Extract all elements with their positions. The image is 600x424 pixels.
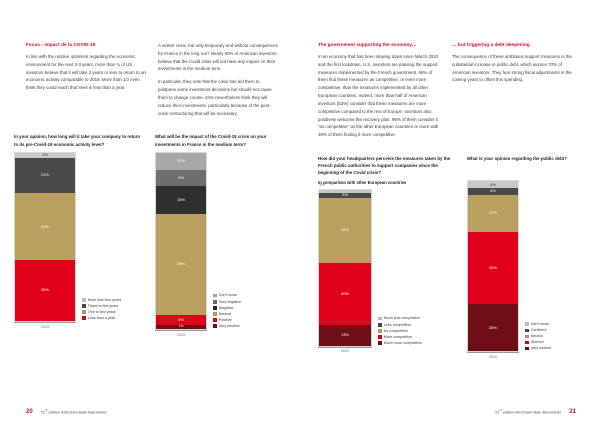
legend-swatch xyxy=(525,329,529,333)
legend-0: More than five yearsThree to five yearsO… xyxy=(82,298,121,329)
bar-segment: 40% xyxy=(319,263,371,325)
legend-item: Three to five years xyxy=(82,304,121,309)
legend-swatch xyxy=(82,310,86,314)
legend-swatch xyxy=(213,294,217,298)
legend-item: Neutral xyxy=(525,334,551,339)
page-number: 20 xyxy=(26,409,33,415)
legend-item: More than five years xyxy=(82,298,121,303)
x-tick-label: 2020 xyxy=(155,333,207,337)
legend-label: Very negative xyxy=(219,300,241,305)
legend-swatch xyxy=(525,347,529,351)
legend-swatch xyxy=(525,341,529,345)
legend-label: Confident xyxy=(531,328,547,333)
bar-segment-value: 4% xyxy=(490,189,496,193)
stacked-bar: 4%4%22%43%28% xyxy=(467,180,519,352)
bar-segment: 28% xyxy=(468,304,518,351)
legend-label: Neutral xyxy=(219,312,231,317)
legend-swatch xyxy=(378,341,382,345)
text-column-debt: … but triggering a debt deepening The co… xyxy=(452,42,574,139)
legend-label: Much less competitive xyxy=(384,316,420,321)
footer-caption: 21st edition AmCham-Bain Barometer xyxy=(495,408,561,414)
paragraph: The consequence of these ambitious suppo… xyxy=(452,53,574,84)
page-left: Focus - impact de la COVID-19 In line wi… xyxy=(0,0,300,424)
axis-line xyxy=(14,322,76,323)
axis-line xyxy=(318,347,372,348)
legend-label: Less than a year xyxy=(88,316,115,321)
stacked-bar: 3%21%40%36% xyxy=(14,152,76,322)
legend-swatch xyxy=(378,317,382,321)
legend-swatch xyxy=(525,322,529,326)
bar-segment-value: 1% xyxy=(179,325,184,328)
legend-item: Very negative xyxy=(213,300,241,305)
legend-label: Very positive xyxy=(219,324,240,329)
kicker-focus: Focus - impact de la COVID-19 xyxy=(26,42,146,48)
axis-line xyxy=(467,352,519,353)
bar-segment: 16% xyxy=(156,186,206,214)
legend-item: Neutral xyxy=(213,312,241,317)
chart-title: In your opinion, how long will it take y… xyxy=(14,133,143,147)
right-text-columns: The government supporting the economy… I… xyxy=(300,0,600,139)
bar-segment: 21% xyxy=(15,158,75,193)
legend-item: Less competitive xyxy=(378,323,422,328)
bar-segment-value: 6% xyxy=(178,318,184,322)
outside-value-label: 1% xyxy=(319,183,325,187)
bar-segment-value: 16% xyxy=(177,198,185,202)
left-text-columns: Focus - impact de la COVID-19 In line wi… xyxy=(0,0,300,117)
bar-segment: 58% xyxy=(156,214,206,315)
legend-item: Negative xyxy=(213,306,241,311)
footer-left: 20 21st edition AmCham-Bain Barometer xyxy=(26,408,107,415)
paragraph: In line with the relative optimism regar… xyxy=(26,53,146,92)
bar-segment: 13% xyxy=(319,325,371,345)
legend-item: Very positive xyxy=(213,324,241,329)
stacked-bar: 1%3%42%40%13% xyxy=(318,189,372,347)
legend-item: Positive xyxy=(213,318,241,323)
bar-wrap-1: 10%9%16%58%6%1% 2020 xyxy=(155,152,207,337)
bar-segment-value: 22% xyxy=(489,211,497,215)
footer-right: 21 21st edition AmCham-Bain Barometer xyxy=(495,408,576,415)
page-right: The government supporting the economy… I… xyxy=(300,0,600,424)
plot-area-3: 4%4%22%43%28% 2020 Don't knowConfidentNe… xyxy=(467,180,584,359)
bar-segment-value: 13% xyxy=(341,333,349,337)
legend-swatch xyxy=(82,304,86,308)
legend-swatch xyxy=(82,298,86,302)
legend-label: More competitive xyxy=(384,335,412,340)
plot-area-0: 3%21%40%36% 2020 More than five yearsThr… xyxy=(14,152,143,329)
bar-segment: 4% xyxy=(468,181,518,188)
bar-segment-value: 40% xyxy=(41,225,49,229)
legend-swatch xyxy=(213,300,217,304)
legend-item: Confident xyxy=(525,328,551,333)
kicker-debt: … but triggering a debt deepening xyxy=(452,42,574,48)
legend-item: Less than a year xyxy=(82,316,121,321)
x-tick-label: 2020 xyxy=(14,325,76,329)
legend-label: Negative xyxy=(219,306,234,311)
x-tick-label: 2020 xyxy=(467,355,519,359)
bar-segment-value: 3% xyxy=(42,153,48,157)
legend-label: Much more competitive xyxy=(384,341,422,346)
bar-segment-value: 10% xyxy=(177,159,185,163)
legend-label: Don't know xyxy=(219,293,237,298)
paragraph: In an economy that has been slowing down… xyxy=(318,53,440,139)
bar-segment-value: 28% xyxy=(489,326,497,330)
legend-3: Don't knowConfidentNeutralWorriedVery wo… xyxy=(525,322,551,359)
legend-item: More competitive xyxy=(378,335,422,340)
legend-label: As competitive xyxy=(384,329,408,334)
legend-swatch xyxy=(213,324,217,328)
axis-line xyxy=(155,330,207,331)
legend-item: Much less competitive xyxy=(378,316,422,321)
chart-block-0: In your opinion, how long will it take y… xyxy=(14,133,143,336)
bar-segment: 10% xyxy=(156,153,206,170)
bar-segment: 36% xyxy=(15,260,75,320)
legend-item: Much more competitive xyxy=(378,341,422,346)
chart-block-2: How did your headquarters perceive the m… xyxy=(318,155,457,359)
legend-item: As competitive xyxy=(378,329,422,334)
chart-block-1: What will be the impact of the Covid-19 … xyxy=(155,133,286,336)
paragraph: In particular, they note that the crisis… xyxy=(158,78,278,117)
bar-segment: 43% xyxy=(468,232,518,304)
bar-wrap-2: 1% 1%3%42%40%13% 2020 xyxy=(318,189,372,354)
bar-segment: 1% xyxy=(156,325,206,328)
bar-segment-value: 43% xyxy=(489,266,497,270)
bar-segment-value: 9% xyxy=(178,176,184,180)
bar-segment-value: 4% xyxy=(490,183,496,187)
text-column-crisis: A violent crisis, but only temporary and… xyxy=(158,42,278,117)
legend-label: One to two years xyxy=(88,310,116,315)
legend-label: Less competitive xyxy=(384,323,411,328)
legend-label: More than five years xyxy=(88,298,121,303)
text-column-government: The government supporting the economy… I… xyxy=(318,42,440,139)
legend-label: Very worried xyxy=(531,346,552,351)
left-charts-row: In your opinion, how long will it take y… xyxy=(0,133,300,336)
bar-wrap-0: 3%21%40%36% 2020 xyxy=(14,152,76,329)
bar-segment-value: 58% xyxy=(177,262,185,266)
text-column-focus: Focus - impact de la COVID-19 In line wi… xyxy=(26,42,146,117)
legend-label: Positive xyxy=(219,318,232,323)
legend-label: Three to five years xyxy=(88,304,119,309)
legend-swatch xyxy=(82,316,86,320)
legend-swatch xyxy=(378,329,382,333)
footer-caption: 21st edition AmCham-Bain Barometer xyxy=(41,408,107,414)
bar-segment: 40% xyxy=(15,193,75,260)
legend-label: Neutral xyxy=(531,334,543,339)
legend-swatch xyxy=(525,335,529,339)
legend-item: One to two years xyxy=(82,310,121,315)
legend-label: Don't know xyxy=(531,322,549,327)
stacked-bar: 10%9%16%58%6%1% xyxy=(155,152,207,330)
bar-segment-value: 21% xyxy=(41,173,49,177)
bar-wrap-3: 4%4%22%43%28% 2020 xyxy=(467,180,519,359)
magazine-spread: Focus - impact de la COVID-19 In line wi… xyxy=(0,0,600,424)
page-number: 21 xyxy=(569,409,576,415)
legend-label: Worried xyxy=(531,340,544,345)
chart-subtitle: In comparison with other European countr… xyxy=(318,180,457,186)
bar-segment: 22% xyxy=(468,195,518,232)
legend-swatch xyxy=(213,312,217,316)
bar-segment: 9% xyxy=(156,170,206,186)
legend-item: Don't know xyxy=(525,322,551,327)
bar-segment-value: 40% xyxy=(341,292,349,296)
plot-area-1: 10%9%16%58%6%1% 2020 Don't knowVery nega… xyxy=(155,152,286,337)
bar-segment-value: 42% xyxy=(341,228,349,232)
legend-item: Very worried xyxy=(525,346,551,351)
bar-segment: 4% xyxy=(468,188,518,195)
legend-item: Don't know xyxy=(213,293,241,298)
chart-title: What is your opinion regarding the publi… xyxy=(467,155,584,162)
paragraph: A violent crisis, but only temporary and… xyxy=(158,42,278,73)
chart-title: What will be the impact of the Covid-19 … xyxy=(155,133,286,147)
plot-area-2: 1% 1%3%42%40%13% 2020 Much less competit… xyxy=(318,189,457,354)
chart-title: How did your headquarters perceive the m… xyxy=(318,155,457,176)
chart-block-3: What is your opinion regarding the publi… xyxy=(467,155,584,359)
legend-2: Much less competitiveLess competitiveAs … xyxy=(378,316,422,353)
legend-swatch xyxy=(213,318,217,322)
x-tick-label: 2020 xyxy=(318,349,372,353)
legend-item: Worried xyxy=(525,340,551,345)
legend-1: Don't knowVery negativeNegativeNeutralPo… xyxy=(213,293,241,336)
kicker-government: The government supporting the economy… xyxy=(318,42,440,48)
bar-segment: 42% xyxy=(319,198,371,263)
legend-swatch xyxy=(378,323,382,327)
bar-segment-value: 36% xyxy=(41,288,49,292)
legend-swatch xyxy=(378,335,382,339)
right-charts-row: How did your headquarters perceive the m… xyxy=(300,155,600,359)
legend-swatch xyxy=(213,306,217,310)
